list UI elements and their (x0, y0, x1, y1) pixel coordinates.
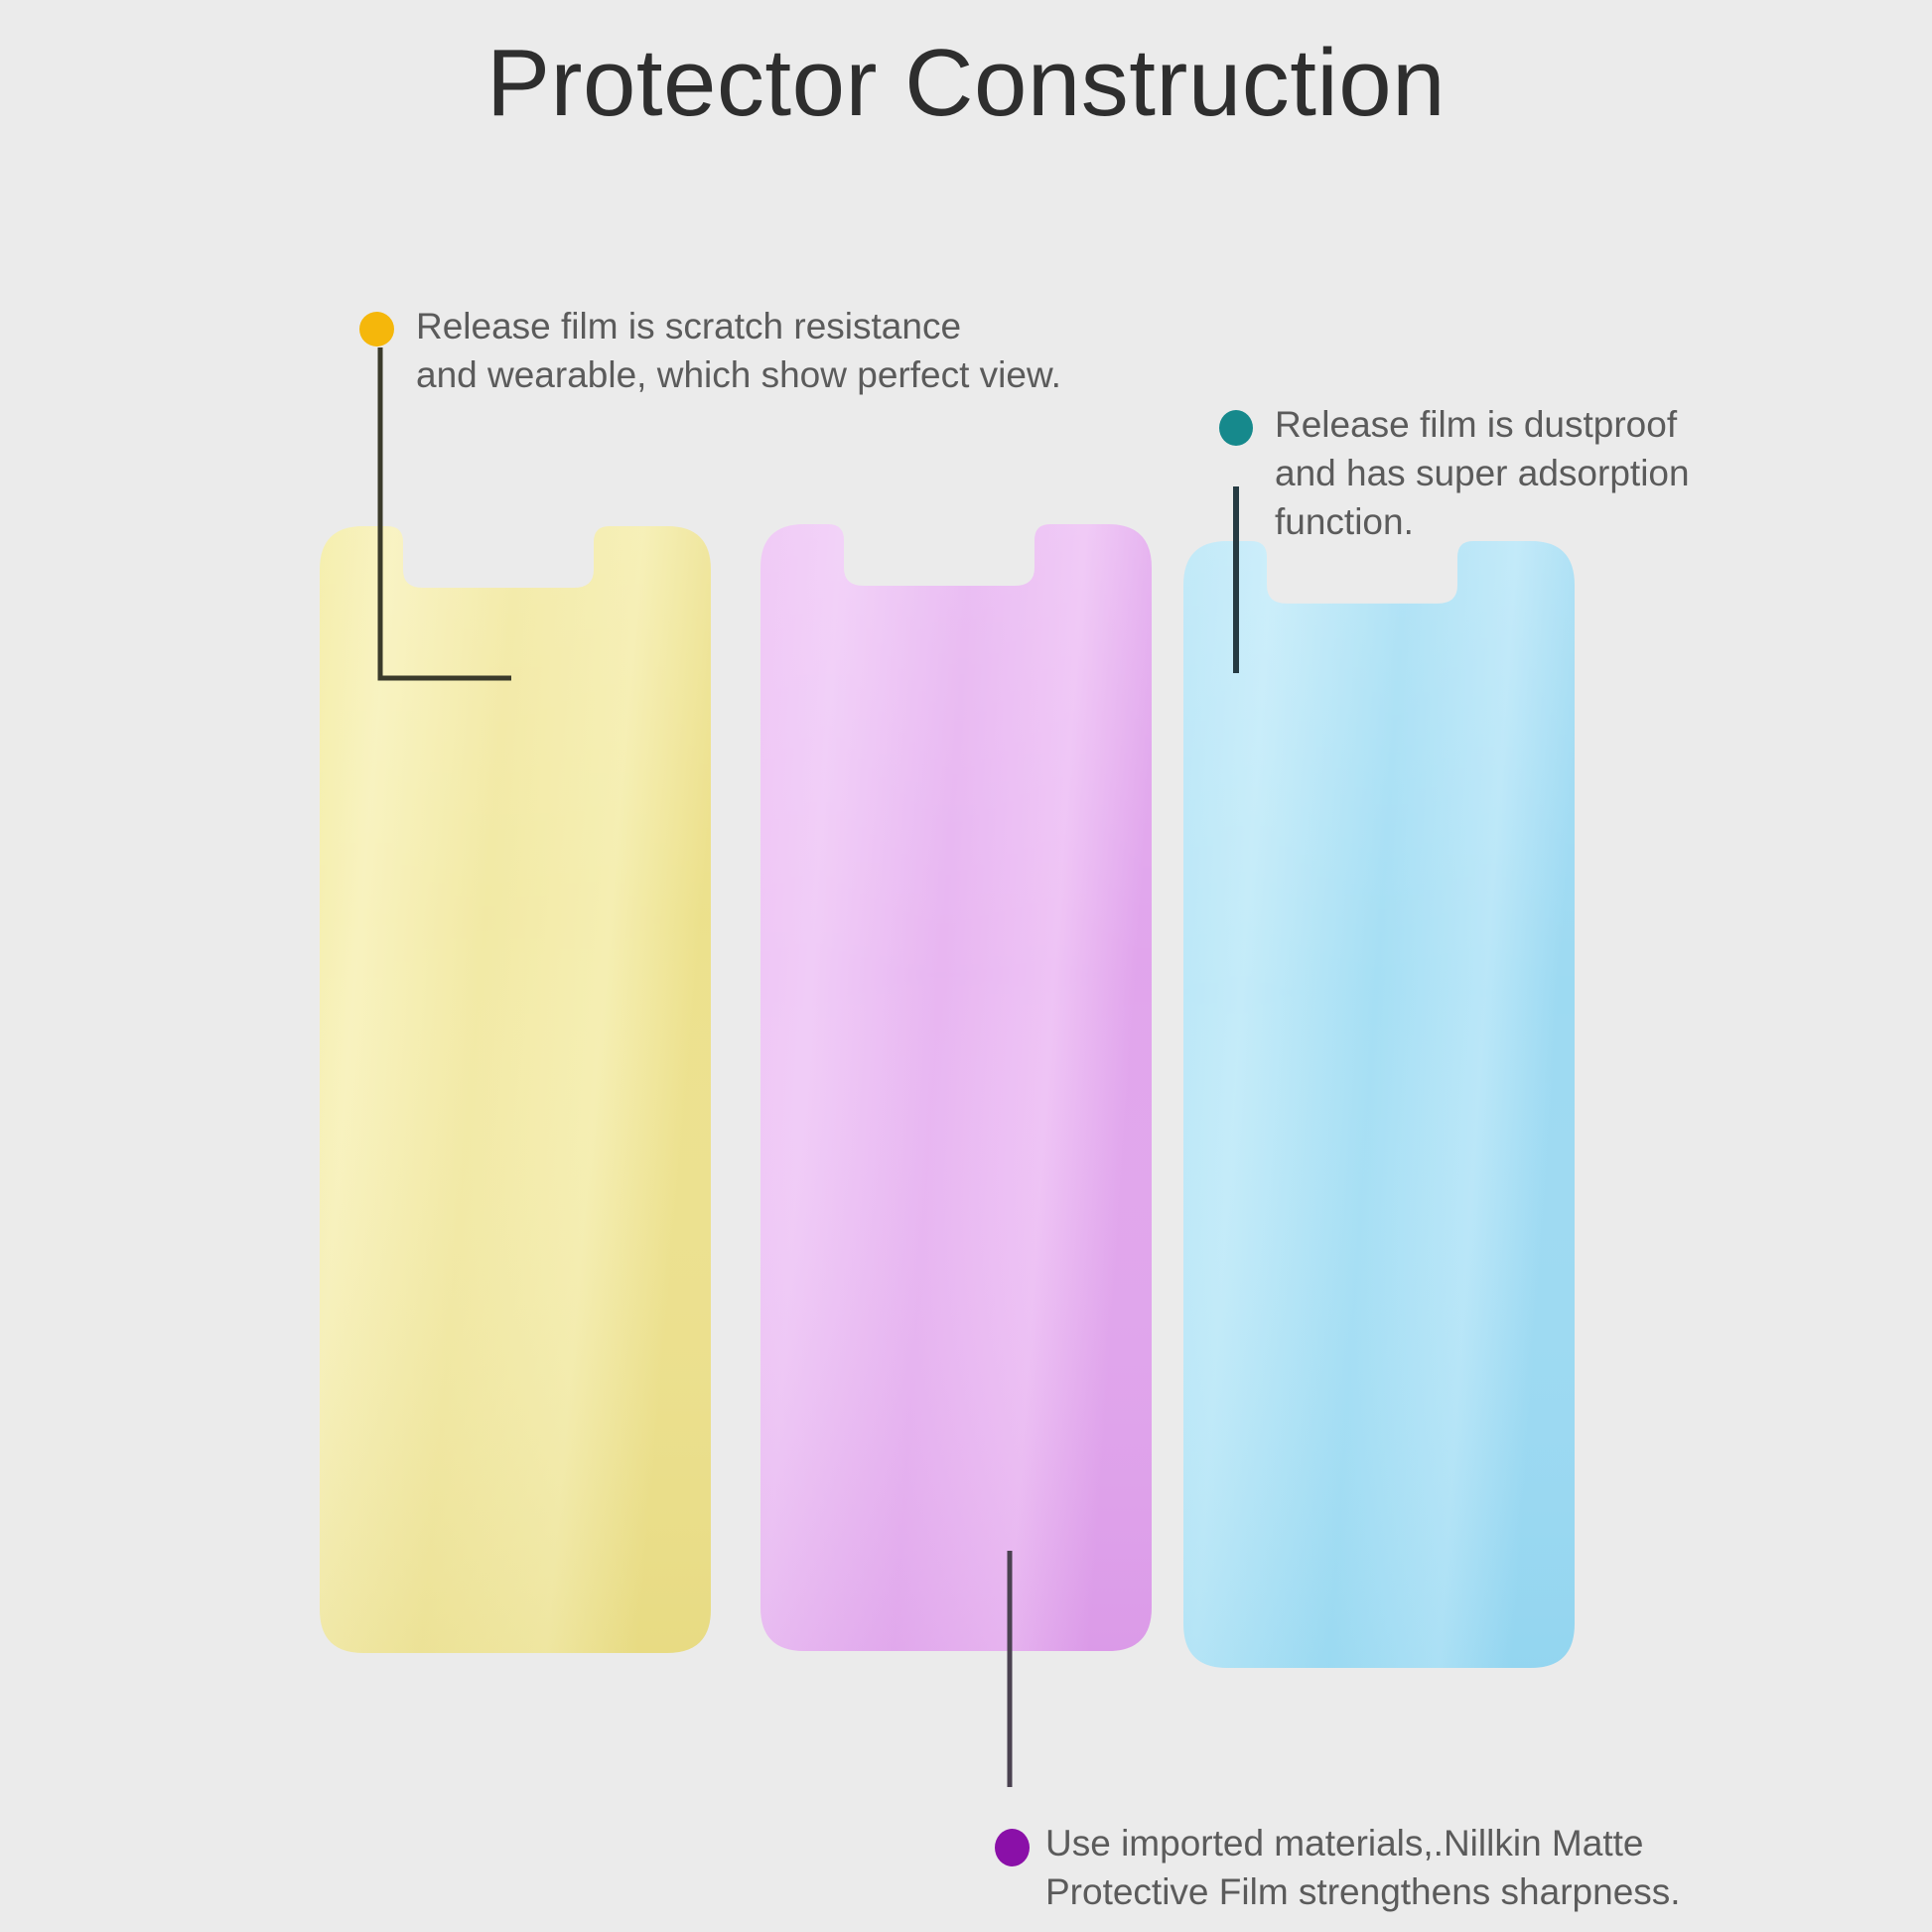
pink-protector-layer (760, 524, 1152, 1651)
blue-protector-shape (1183, 541, 1575, 1668)
callout-imported-materials-text: Use imported materials,.Nillkin Matte Pr… (1045, 1819, 1681, 1916)
callout-release-film-dustproof-text: Release film is dustproof and has super … (1275, 400, 1690, 546)
callout-release-film-scratch: Release film is scratch resistance and w… (359, 302, 1061, 399)
protector-construction-diagram: Protector Construction (0, 0, 1932, 1932)
purple-bullet-dot-icon (995, 1829, 1030, 1866)
blue-protector-layer (1183, 541, 1575, 1668)
pink-protector-shape (760, 524, 1152, 1651)
page-title: Protector Construction (0, 24, 1932, 143)
leader-line-purple (1005, 1551, 1017, 1789)
callout-release-film-dustproof: Release film is dustproof and has super … (1219, 400, 1690, 546)
callout-release-film-scratch-text: Release film is scratch resistance and w… (416, 302, 1061, 399)
callout-imported-materials: Use imported materials,.Nillkin Matte Pr… (995, 1819, 1681, 1916)
yellow-bullet-dot-icon (359, 312, 394, 346)
teal-bullet-dot-icon (1219, 410, 1253, 446)
yellow-protector-shape (320, 526, 711, 1653)
leader-line-purple-path (1005, 1551, 1017, 1789)
yellow-protector-layer (320, 526, 711, 1653)
